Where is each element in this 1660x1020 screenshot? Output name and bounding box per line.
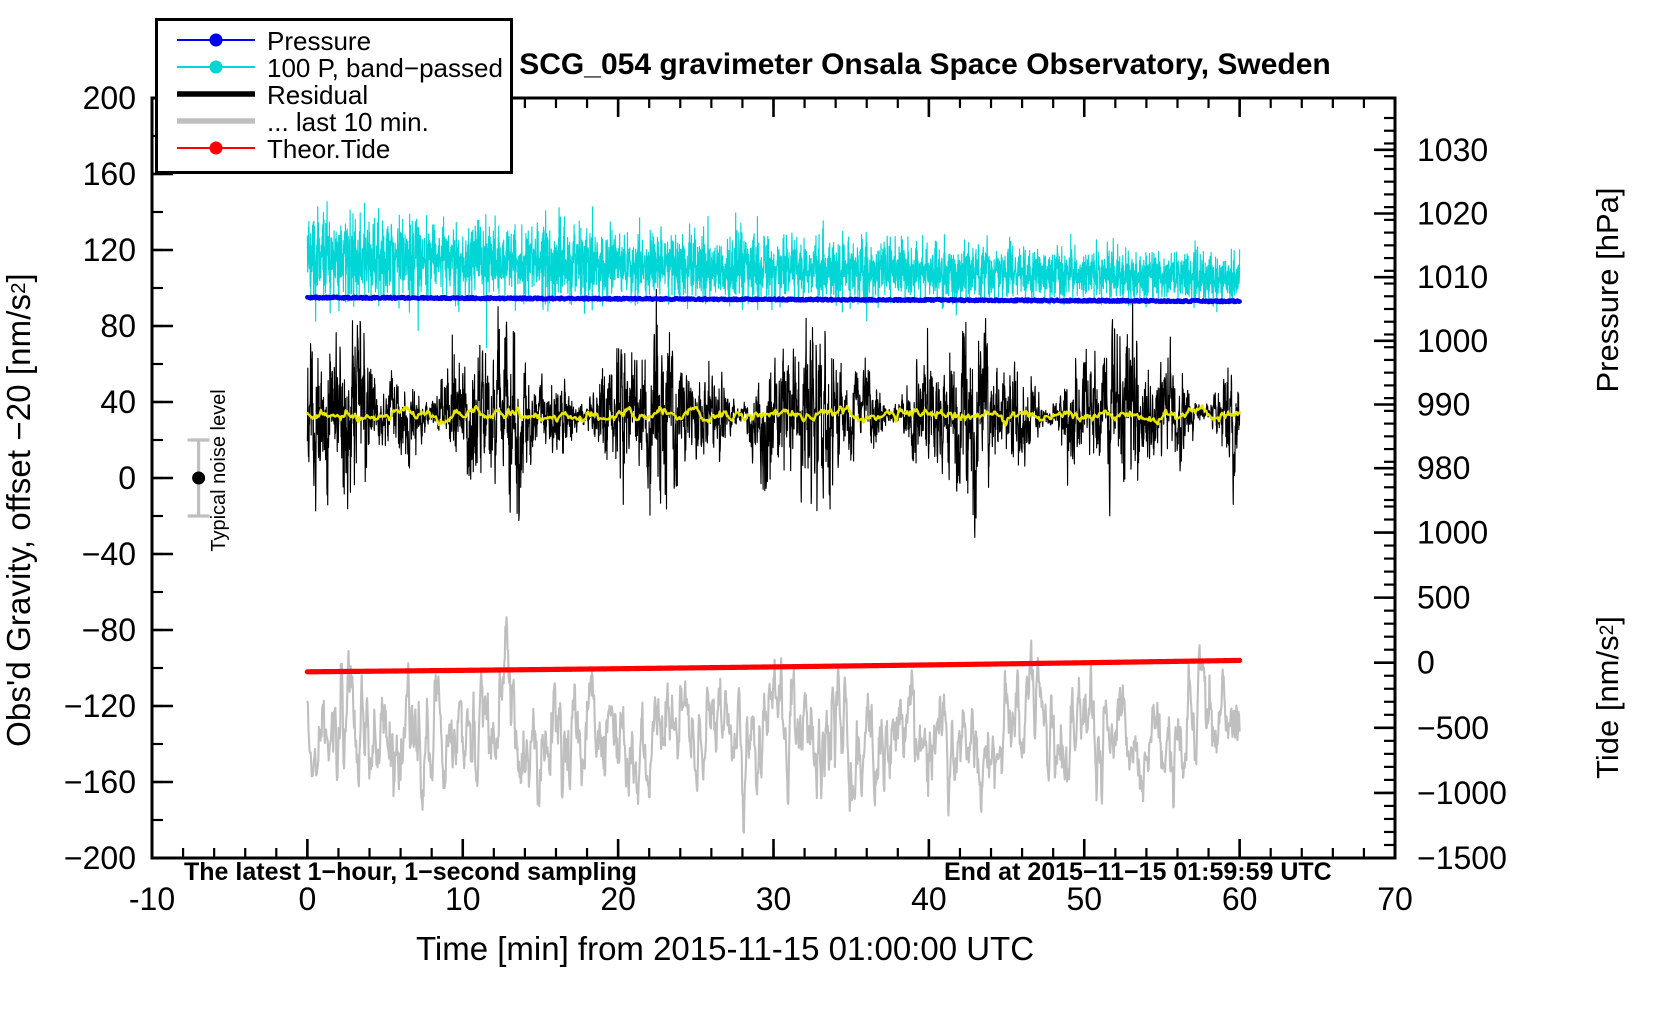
y-axis-right-bottom-label-bracket: ] xyxy=(1590,616,1626,625)
svg-text:30: 30 xyxy=(756,881,792,917)
y-axis-left-label-bracket: ] xyxy=(0,273,38,282)
legend-swatch-marker xyxy=(210,142,223,155)
y-axis-left-label: Obs'd Gravity, offset −20 [nm/s2] xyxy=(0,0,42,1020)
svg-text:500: 500 xyxy=(1417,580,1470,616)
y-axis-right-bottom-label: Tide [nm/s2] xyxy=(1588,525,1628,870)
svg-text:−1000: −1000 xyxy=(1417,775,1507,811)
svg-text:−120: −120 xyxy=(64,688,136,724)
svg-text:−160: −160 xyxy=(64,764,136,800)
legend[interactable]: Pressure100 P, band−passedResidual... la… xyxy=(155,18,515,175)
svg-text:120: 120 xyxy=(83,232,136,268)
svg-text:1030: 1030 xyxy=(1417,132,1488,168)
svg-text:980: 980 xyxy=(1417,450,1470,486)
svg-text:1000: 1000 xyxy=(1417,515,1488,551)
svg-text:70: 70 xyxy=(1377,881,1413,917)
gravimeter-plot-figure: -1001020304050607020016012080400−40−80−1… xyxy=(0,0,1660,1020)
legend-item-label: Residual xyxy=(267,80,368,110)
legend-item-label: Pressure xyxy=(267,26,371,56)
svg-text:990: 990 xyxy=(1417,387,1470,423)
x-axis-label: Time [min] from 2015-11-15 01:00:00 UTC xyxy=(0,930,1450,968)
plot-title: SCG_054 gravimeter Onsala Space Observat… xyxy=(420,48,1430,82)
svg-text:0: 0 xyxy=(118,460,136,496)
legend-item-label: 100 P, band−passed xyxy=(267,53,503,83)
svg-text:−80: −80 xyxy=(82,612,136,648)
svg-text:200: 200 xyxy=(83,80,136,116)
svg-text:1000: 1000 xyxy=(1417,323,1488,359)
svg-text:80: 80 xyxy=(100,308,136,344)
y-axis-left-label-exponent: 2 xyxy=(7,282,31,293)
svg-text:−500: −500 xyxy=(1417,710,1489,746)
svg-text:1010: 1010 xyxy=(1417,259,1488,295)
svg-text:40: 40 xyxy=(100,384,136,420)
svg-text:−200: −200 xyxy=(64,840,136,876)
svg-text:−40: −40 xyxy=(82,536,136,572)
typical-noise-level-label: Typical noise level xyxy=(206,363,232,578)
legend-item-label: Theor.Tide xyxy=(267,134,390,164)
svg-text:0: 0 xyxy=(1417,645,1435,681)
svg-text:1020: 1020 xyxy=(1417,196,1488,232)
annotation-end-time: End at 2015−11−15 01:59:59 UTC xyxy=(944,858,1332,887)
legend-item-label: ... last 10 min. xyxy=(267,107,429,137)
legend-swatch-marker xyxy=(210,34,223,47)
legend-swatch-marker xyxy=(210,61,223,74)
y-axis-right-top-label: Pressure [hPa] xyxy=(1588,80,1628,500)
y-axis-left-label-text: Obs'd Gravity, offset −20 [nm/s xyxy=(0,294,38,747)
svg-text:-10: -10 xyxy=(129,881,175,917)
svg-text:−1500: −1500 xyxy=(1417,840,1507,876)
svg-text:40: 40 xyxy=(911,881,947,917)
svg-text:160: 160 xyxy=(83,156,136,192)
y-axis-right-bottom-label-exponent: 2 xyxy=(1597,625,1619,636)
annotation-sampling: The latest 1−hour, 1−second sampling xyxy=(184,858,637,887)
y-axis-right-bottom-label-text: Tide [nm/s xyxy=(1590,635,1626,779)
